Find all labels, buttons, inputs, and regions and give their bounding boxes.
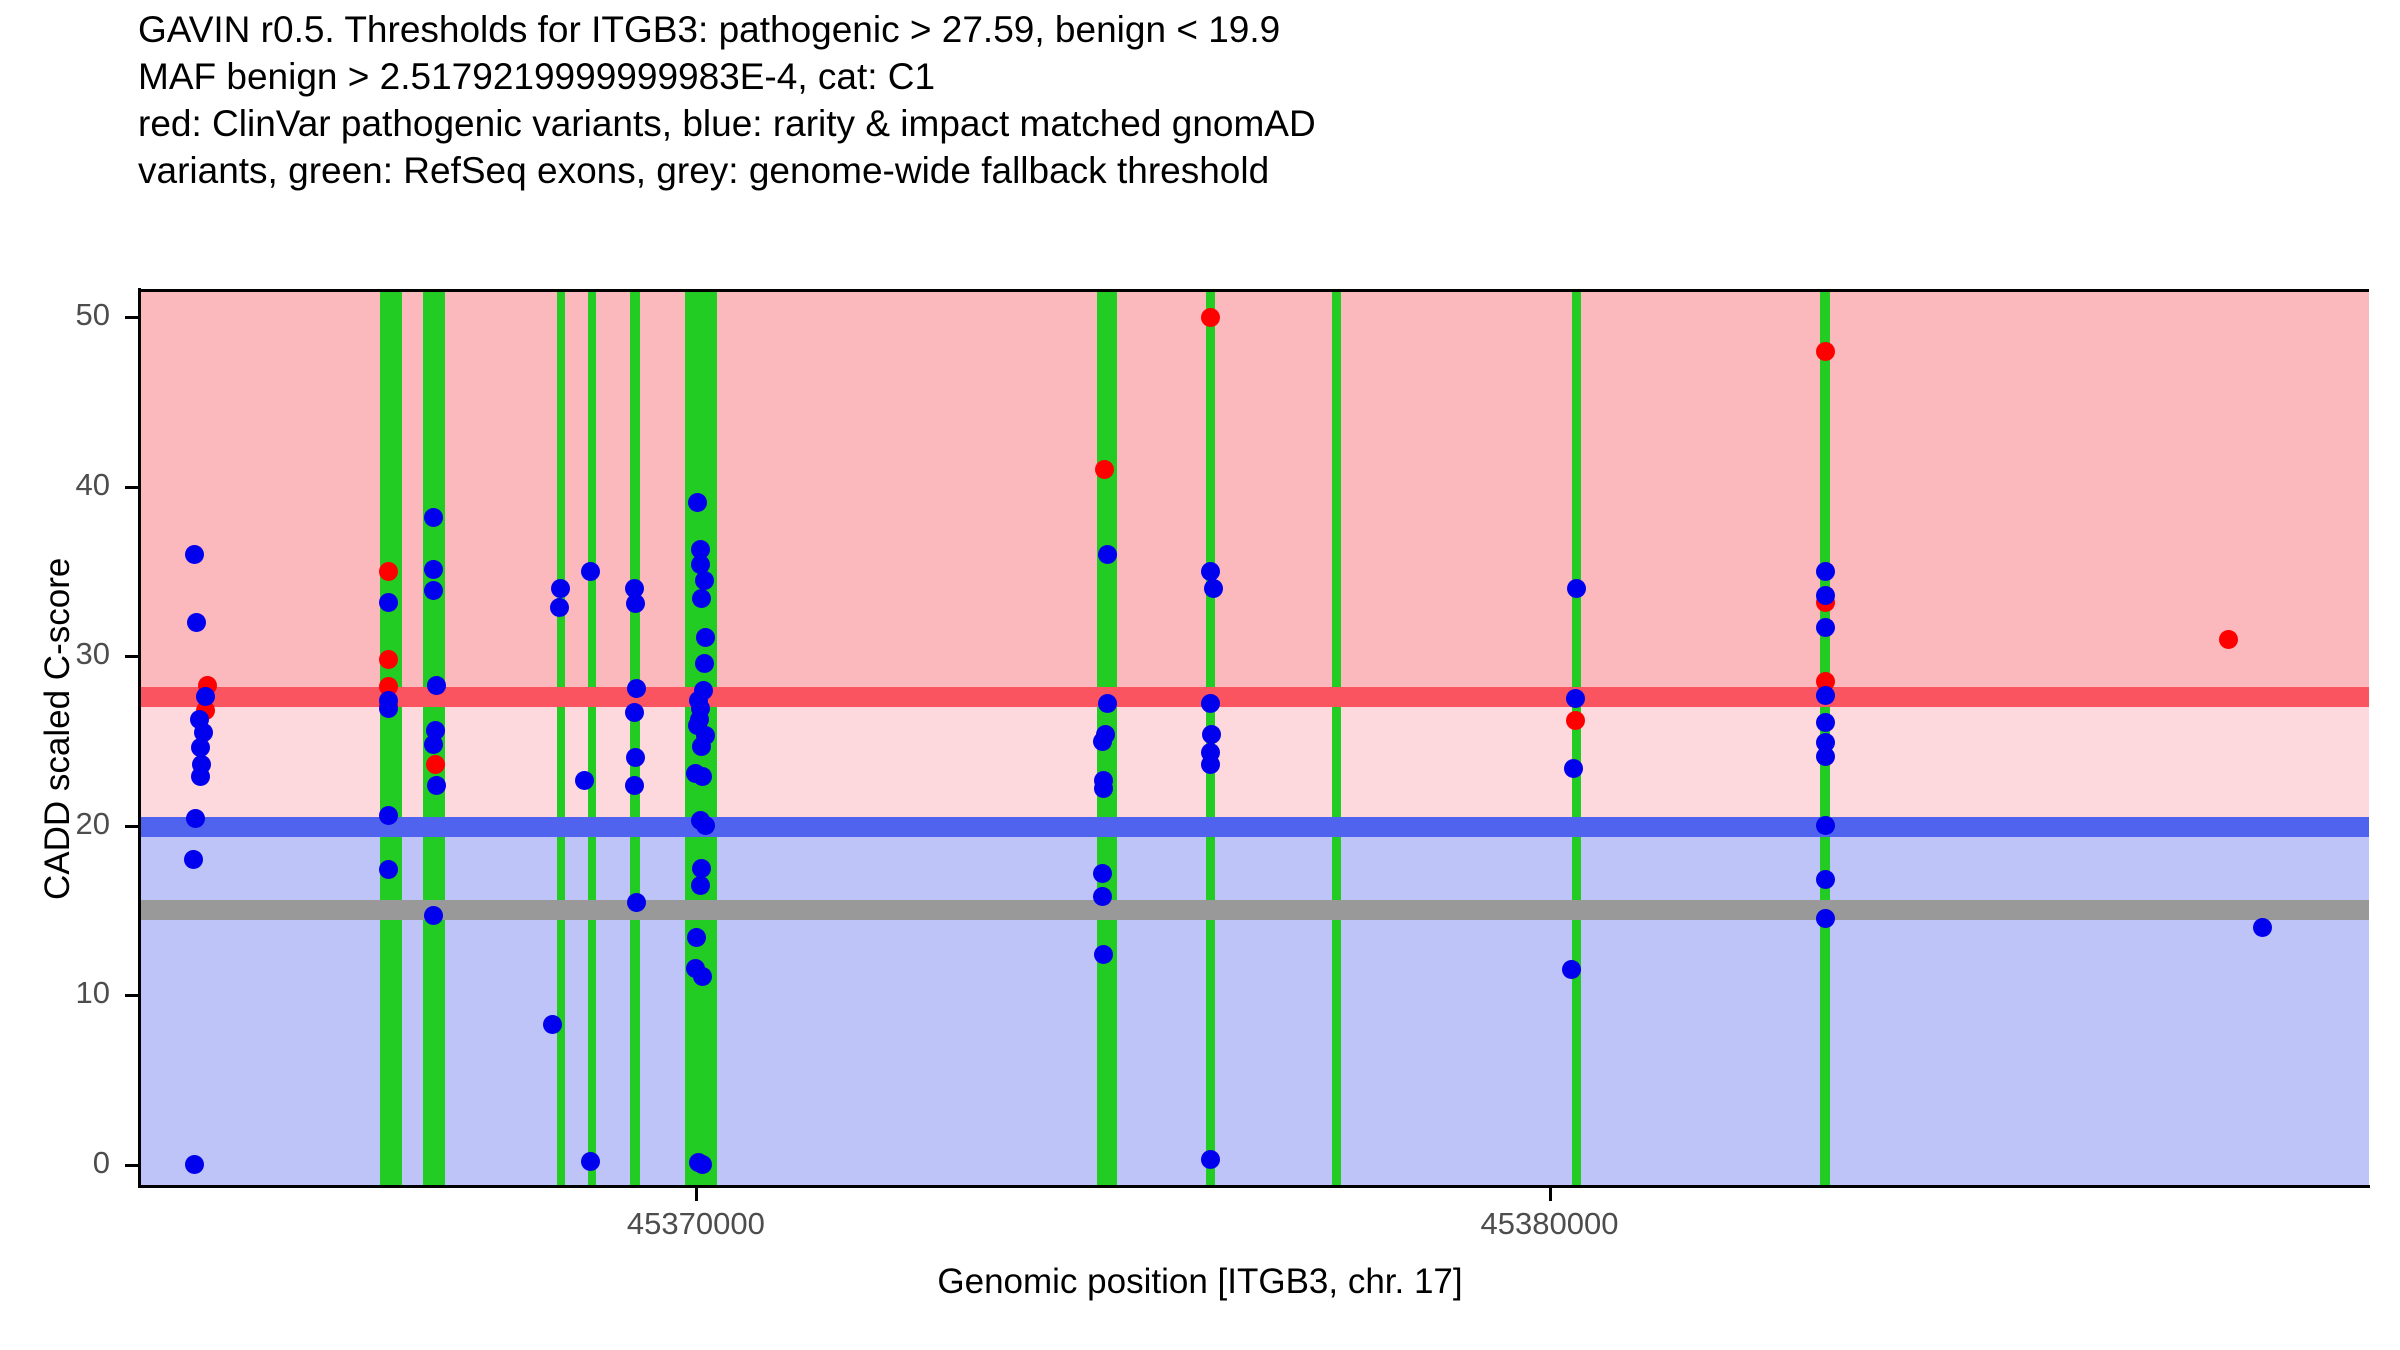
gnomad-variant-point <box>1816 816 1835 835</box>
x-tick-label: 45380000 <box>1400 1206 1700 1242</box>
gnomad-variant-point <box>1566 689 1585 708</box>
gnomad-variant-point <box>187 613 206 632</box>
gnomad-variant-point <box>1816 562 1835 581</box>
y-tick-mark <box>125 655 138 658</box>
gnomad-variant-point <box>1816 686 1835 705</box>
gnomad-variant-point <box>696 816 715 835</box>
chart-canvas: GAVIN r0.5. Thresholds for ITGB3: pathog… <box>0 0 2400 1350</box>
chart-title: GAVIN r0.5. Thresholds for ITGB3: pathog… <box>138 6 2338 194</box>
clinvar-pathogenic-point <box>1566 711 1585 730</box>
gnomad-variant-point <box>379 593 398 612</box>
y-tick-mark <box>125 486 138 489</box>
title-line-2: MAF benign > 2.5179219999999983E-4, cat:… <box>138 53 2338 100</box>
y-tick-label: 10 <box>10 975 110 1011</box>
x-tick-mark <box>1549 1188 1552 1201</box>
gnomad-variant-point <box>550 598 569 617</box>
line-benign-threshold <box>141 817 2369 837</box>
gnomad-variant-point <box>1816 713 1835 732</box>
gnomad-variant-point <box>1816 618 1835 637</box>
y-axis-title: CADD scaled C-score <box>38 558 78 900</box>
gnomad-variant-point <box>692 737 711 756</box>
gnomad-variant-point <box>627 893 646 912</box>
line-genome-wide-fallback <box>141 900 2369 920</box>
gnomad-variant-point <box>1093 732 1112 751</box>
y-tick-label: 50 <box>10 297 110 333</box>
line-pathogenic-threshold <box>141 687 2369 707</box>
x-axis-line <box>138 1185 2370 1188</box>
y-tick-mark <box>125 1164 138 1167</box>
exon-bar <box>380 292 402 1185</box>
gnomad-variant-point <box>424 581 443 600</box>
exon-bar <box>1332 292 1341 1185</box>
gnomad-variant-point <box>625 703 644 722</box>
title-line-1: GAVIN r0.5. Thresholds for ITGB3: pathog… <box>138 6 2338 53</box>
band-pathogenic-region <box>141 292 2369 697</box>
gnomad-variant-point <box>625 776 644 795</box>
gnomad-variant-point <box>1093 887 1112 906</box>
gnomad-variant-point <box>695 571 714 590</box>
exon-bar <box>1572 292 1581 1185</box>
band-benign-region <box>141 827 2369 1185</box>
title-line-4: variants, green: RefSeq exons, grey: gen… <box>138 147 2338 194</box>
title-line-3: red: ClinVar pathogenic variants, blue: … <box>138 100 2338 147</box>
x-tick-mark <box>695 1188 698 1201</box>
gnomad-variant-point <box>1202 725 1221 744</box>
clinvar-pathogenic-point <box>2219 630 2238 649</box>
plot-area <box>141 292 2369 1185</box>
gnomad-variant-point <box>627 679 646 698</box>
gnomad-variant-point <box>575 771 594 790</box>
y-tick-mark <box>125 994 138 997</box>
y-tick-mark <box>125 825 138 828</box>
gnomad-variant-point <box>1204 579 1223 598</box>
y-tick-label: 40 <box>10 467 110 503</box>
gnomad-variant-point <box>581 1152 600 1171</box>
gnomad-variant-point <box>1098 545 1117 564</box>
gnomad-variant-point <box>696 628 715 647</box>
gnomad-variant-point <box>427 776 446 795</box>
clinvar-pathogenic-point <box>379 562 398 581</box>
y-tick-mark <box>125 316 138 319</box>
clinvar-pathogenic-point <box>1816 342 1835 361</box>
gnomad-variant-point <box>695 654 714 673</box>
gnomad-variant-point <box>626 594 645 613</box>
gnomad-variant-point <box>1816 586 1835 605</box>
panel-top-border <box>141 289 2369 292</box>
x-tick-label: 45370000 <box>546 1206 846 1242</box>
gnomad-variant-point <box>688 493 707 512</box>
gnomad-variant-point <box>691 876 710 895</box>
gnomad-variant-point <box>1816 747 1835 766</box>
gnomad-variant-point <box>2253 918 2272 937</box>
clinvar-pathogenic-point <box>1201 308 1220 327</box>
gnomad-variant-point <box>1093 864 1112 883</box>
gnomad-variant-point <box>379 806 398 825</box>
x-axis-title: Genomic position [ITGB3, chr. 17] <box>0 1262 2400 1302</box>
exon-bar <box>630 292 639 1185</box>
gnomad-variant-point <box>1098 694 1117 713</box>
exon-bar <box>588 292 596 1185</box>
y-tick-label: 0 <box>10 1145 110 1181</box>
gnomad-variant-point <box>427 676 446 695</box>
gnomad-variant-point <box>1564 759 1583 778</box>
y-axis-line <box>138 288 141 1188</box>
band-vus-region <box>141 697 2369 827</box>
exon-bar <box>557 292 566 1185</box>
gnomad-variant-point <box>692 859 711 878</box>
gnomad-variant-point <box>543 1015 562 1034</box>
